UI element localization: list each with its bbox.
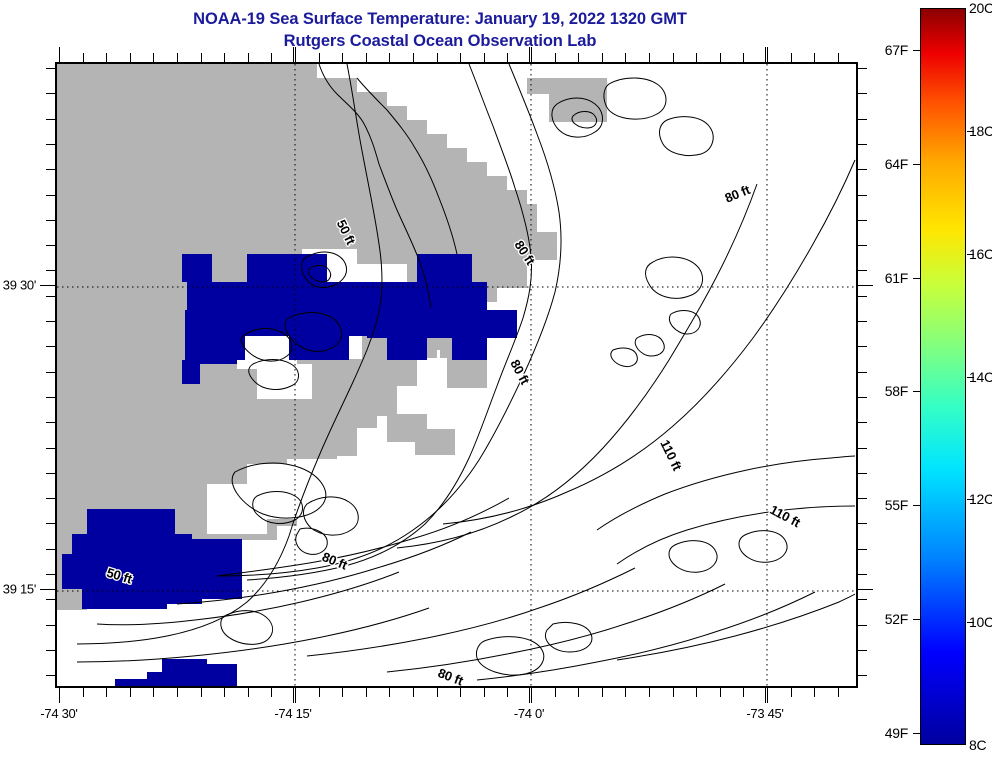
x-tick-top <box>531 47 532 62</box>
y-tick-left <box>46 549 55 550</box>
x-tick-major-top <box>293 47 294 62</box>
y-tick-left <box>46 119 55 120</box>
x-axis-label: -73 45' <box>746 706 783 721</box>
y-tick-left <box>46 625 55 626</box>
x-tick-bottom <box>437 688 438 697</box>
x-tick-top <box>248 53 249 62</box>
y-tick-right <box>858 245 867 246</box>
y-tick-right <box>858 195 867 196</box>
x-tick-top <box>177 53 178 62</box>
x-tick-top <box>366 53 367 62</box>
x-tick-top <box>838 53 839 62</box>
x-tick-bottom <box>673 688 674 697</box>
y-tick-right <box>858 473 867 474</box>
sst-map-page: NOAA-19 Sea Surface Temperature: January… <box>0 0 992 761</box>
y-tick-left <box>46 574 55 575</box>
colorbar-tick-celsius <box>967 377 974 378</box>
colorbar-label-fahrenheit: 64F <box>885 156 908 172</box>
x-tick-top <box>578 53 579 62</box>
x-tick-bottom <box>531 688 532 703</box>
y-tick-left <box>46 523 55 524</box>
x-tick-bottom <box>248 688 249 697</box>
colorbar-tick-fahrenheit <box>913 733 920 734</box>
x-tick-bottom <box>413 688 414 697</box>
x-tick-top <box>83 53 84 62</box>
colorbar-tick-fahrenheit <box>913 505 920 506</box>
x-tick-top <box>153 53 154 62</box>
colorbar-label-fahrenheit: 49F <box>885 725 908 741</box>
x-tick-top <box>696 53 697 62</box>
x-tick-top <box>224 53 225 62</box>
x-tick-bottom <box>389 688 390 697</box>
y-tick-right <box>858 498 867 499</box>
y-tick-major-right <box>858 285 873 286</box>
x-tick-top <box>295 47 296 62</box>
y-tick-left <box>46 93 55 94</box>
y-tick-right <box>858 68 867 69</box>
y-tick-right <box>858 296 867 297</box>
x-axis-label: -74 0' <box>514 706 544 721</box>
y-axis-label: 39 15' <box>0 582 36 597</box>
y-tick-left <box>46 169 55 170</box>
x-tick-bottom <box>295 688 296 703</box>
x-tick-top <box>555 53 556 62</box>
x-tick-major-top <box>765 47 766 62</box>
title-line-2: Rutgers Coastal Ocean Observation Lab <box>0 30 880 52</box>
y-tick-left <box>46 650 55 651</box>
y-tick-left <box>46 473 55 474</box>
x-tick-major-bottom <box>765 688 766 703</box>
colorbar-tick-fahrenheit <box>913 50 920 51</box>
colorbar-tick-celsius <box>967 254 974 255</box>
title-line-1: NOAA-19 Sea Surface Temperature: January… <box>0 8 880 30</box>
y-tick-left <box>46 372 55 373</box>
y-tick-right <box>858 675 867 676</box>
y-tick-right <box>858 144 867 145</box>
colorbar-label-fahrenheit: 58F <box>885 383 908 399</box>
y-tick-right <box>858 650 867 651</box>
x-tick-top <box>649 53 650 62</box>
colorbar-label-celsius: 8C <box>969 737 986 753</box>
colorbar-tick-fahrenheit <box>913 164 920 165</box>
y-tick-left <box>46 195 55 196</box>
y-tick-left <box>46 448 55 449</box>
x-tick-bottom <box>507 688 508 697</box>
y-tick-right <box>858 599 867 600</box>
colorbar-label-fahrenheit: 55F <box>885 497 908 513</box>
x-tick-major-top <box>59 47 60 62</box>
y-tick-left <box>46 144 55 145</box>
x-tick-bottom <box>578 688 579 697</box>
x-tick-bottom <box>319 688 320 697</box>
y-tick-right <box>858 372 867 373</box>
y-axis-label: 39 30' <box>0 278 36 293</box>
y-tick-right <box>858 397 867 398</box>
y-tick-right <box>858 93 867 94</box>
y-tick-right <box>858 448 867 449</box>
y-tick-left <box>46 346 55 347</box>
x-tick-bottom <box>83 688 84 697</box>
x-tick-major-top <box>529 47 530 62</box>
x-tick-bottom <box>224 688 225 697</box>
sst-colorbar[interactable] <box>920 8 966 745</box>
colorbar-tick-celsius <box>967 499 974 500</box>
x-tick-top <box>460 53 461 62</box>
x-tick-top <box>814 53 815 62</box>
x-tick-bottom <box>460 688 461 697</box>
y-tick-left <box>46 422 55 423</box>
y-tick-major-left <box>40 285 55 286</box>
y-tick-left <box>46 220 55 221</box>
map-render-layer: 50 ft 80 ft 80 ft 80 ft 110 ft 110 ft 80… <box>57 64 856 686</box>
x-tick-top <box>673 53 674 62</box>
x-tick-bottom <box>838 688 839 697</box>
x-tick-bottom <box>271 688 272 697</box>
x-tick-top <box>743 53 744 62</box>
map-plot-area[interactable]: 50 ft 80 ft 80 ft 80 ft 110 ft 110 ft 80… <box>55 62 858 688</box>
x-tick-top <box>767 47 768 62</box>
x-tick-bottom <box>720 688 721 697</box>
x-tick-top <box>271 53 272 62</box>
x-tick-bottom <box>767 688 768 703</box>
x-tick-bottom <box>696 688 697 697</box>
x-tick-major-bottom <box>59 688 60 703</box>
y-tick-left <box>46 270 55 271</box>
y-tick-left <box>46 675 55 676</box>
y-tick-left <box>46 498 55 499</box>
x-tick-top <box>413 53 414 62</box>
x-tick-bottom <box>814 688 815 697</box>
y-tick-right <box>858 346 867 347</box>
colorbar-label-celsius: 20C <box>969 0 992 16</box>
y-tick-right <box>858 574 867 575</box>
colorbar-tick-fahrenheit <box>913 391 920 392</box>
y-tick-right <box>858 523 867 524</box>
x-tick-bottom <box>366 688 367 697</box>
y-tick-left <box>46 321 55 322</box>
x-tick-bottom <box>625 688 626 697</box>
x-tick-top <box>130 53 131 62</box>
x-tick-bottom <box>130 688 131 697</box>
x-tick-top <box>201 53 202 62</box>
y-tick-major-left <box>40 589 55 590</box>
y-tick-right <box>858 549 867 550</box>
y-tick-right <box>858 169 867 170</box>
y-tick-right <box>858 119 867 120</box>
x-tick-bottom <box>342 688 343 697</box>
y-tick-left <box>46 397 55 398</box>
x-tick-bottom <box>555 688 556 697</box>
x-tick-top <box>437 53 438 62</box>
x-tick-bottom <box>201 688 202 697</box>
x-tick-top <box>389 53 390 62</box>
colorbar-tick-celsius <box>967 622 974 623</box>
x-tick-bottom <box>153 688 154 697</box>
y-tick-right <box>858 220 867 221</box>
colorbar-label-fahrenheit: 61F <box>885 270 908 286</box>
x-tick-bottom <box>743 688 744 697</box>
x-tick-bottom <box>602 688 603 697</box>
x-tick-top <box>484 53 485 62</box>
y-tick-major-right <box>858 589 873 590</box>
x-tick-top <box>602 53 603 62</box>
colorbar-tick-celsius <box>967 131 974 132</box>
x-tick-top <box>342 53 343 62</box>
x-tick-top <box>720 53 721 62</box>
x-axis-label: -74 15' <box>274 706 311 721</box>
page-title: NOAA-19 Sea Surface Temperature: January… <box>0 8 880 52</box>
x-tick-top <box>507 53 508 62</box>
x-tick-major-bottom <box>529 688 530 703</box>
y-tick-right <box>858 625 867 626</box>
x-tick-bottom <box>484 688 485 697</box>
colorbar-label-fahrenheit: 52F <box>885 611 908 627</box>
x-tick-top <box>791 53 792 62</box>
y-tick-right <box>858 422 867 423</box>
x-axis-label: -74 30' <box>40 706 77 721</box>
x-tick-bottom <box>106 688 107 697</box>
y-tick-left <box>46 296 55 297</box>
x-tick-bottom <box>791 688 792 697</box>
x-tick-bottom <box>649 688 650 697</box>
x-tick-top <box>106 53 107 62</box>
y-tick-left <box>46 68 55 69</box>
x-tick-bottom <box>177 688 178 697</box>
colorbar-tick-fahrenheit <box>913 278 920 279</box>
y-tick-left <box>46 245 55 246</box>
x-tick-top <box>319 53 320 62</box>
y-tick-right <box>858 321 867 322</box>
x-tick-major-bottom <box>293 688 294 703</box>
x-tick-top <box>625 53 626 62</box>
colorbar-tick-fahrenheit <box>913 619 920 620</box>
y-tick-left <box>46 599 55 600</box>
y-tick-right <box>858 270 867 271</box>
colorbar-label-fahrenheit: 67F <box>885 42 908 58</box>
